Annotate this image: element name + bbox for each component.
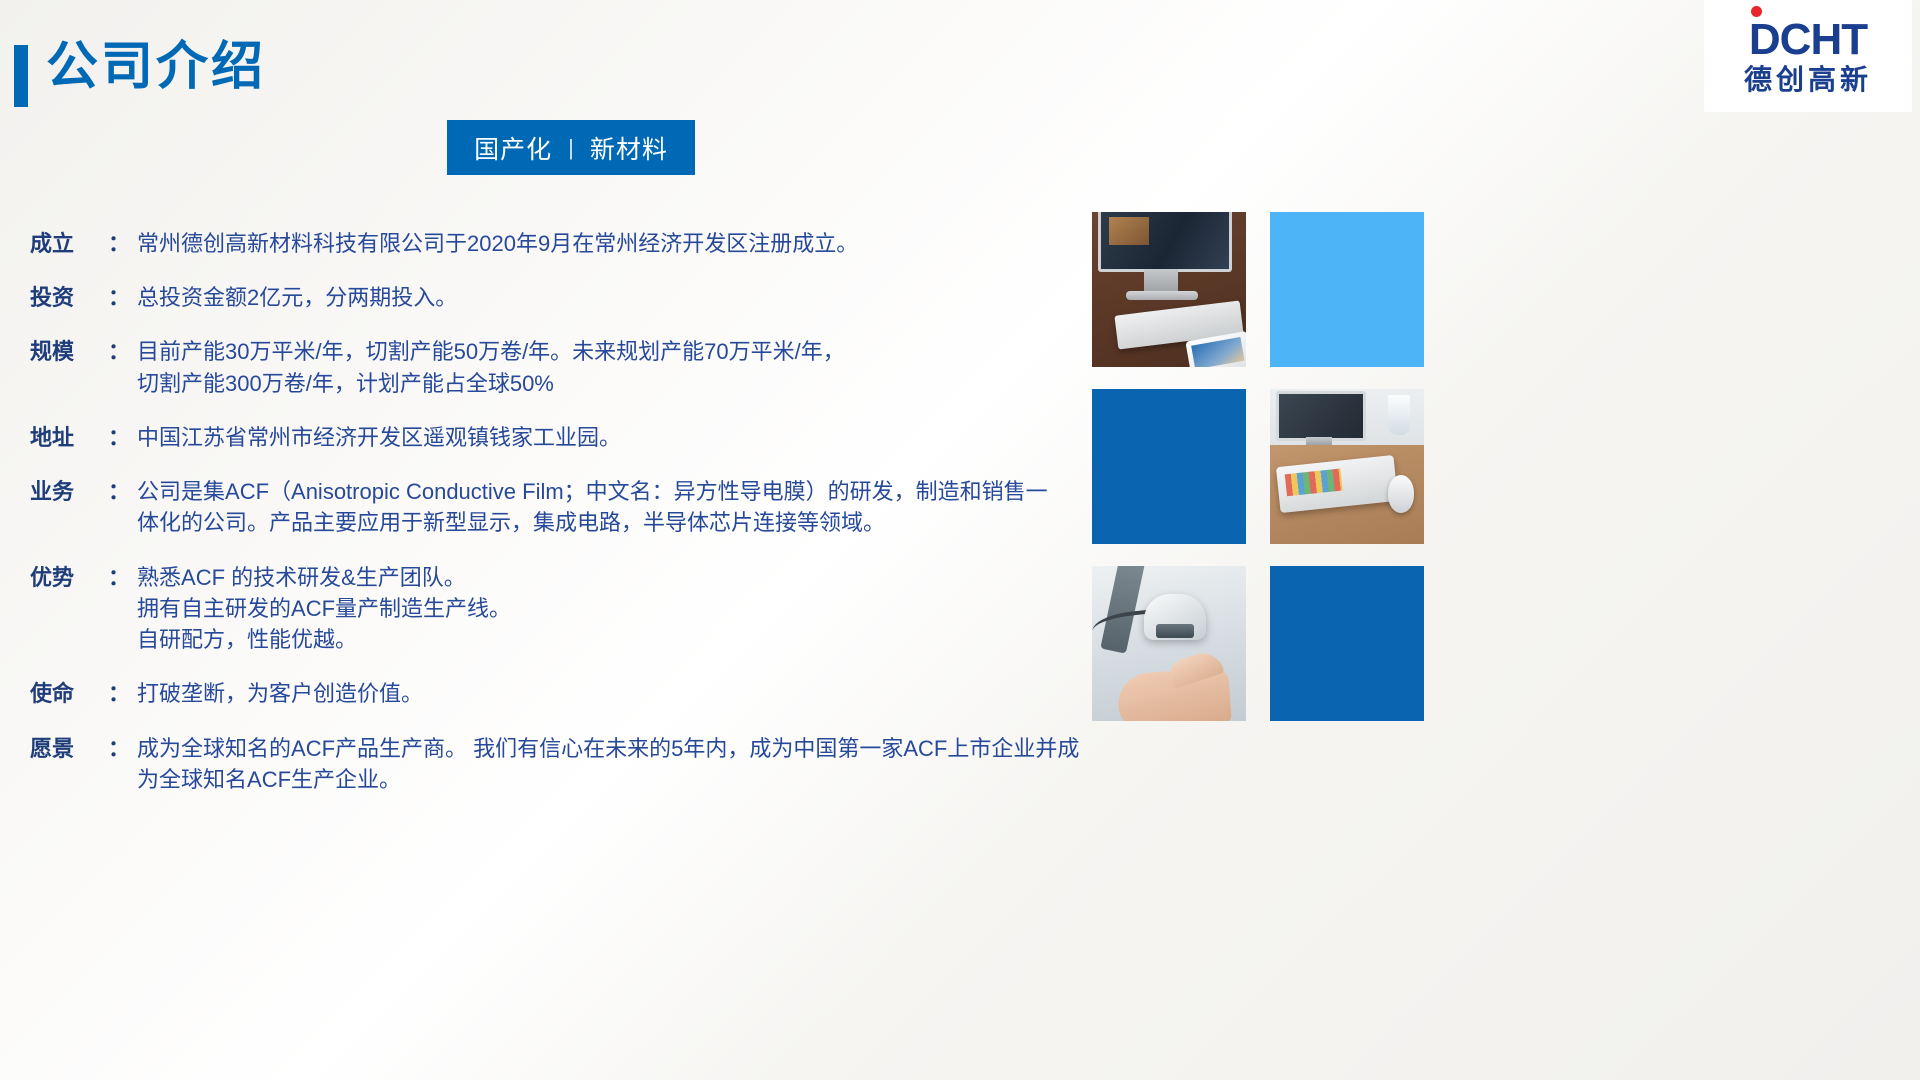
- info-row-line: 总投资金额2亿元，分两期投入。: [137, 282, 1090, 313]
- info-row-line: 打破垄断，为客户创造价值。: [137, 678, 1090, 709]
- tagline-separator: |: [568, 135, 574, 161]
- light-blue-tile: [1270, 212, 1424, 367]
- info-row: 投资：总投资金额2亿元，分两期投入。: [30, 282, 1090, 313]
- info-row-label: 地址: [30, 422, 108, 453]
- logo-wordmark: DCHT: [1749, 18, 1867, 62]
- info-row-label: 优势: [30, 562, 108, 593]
- info-row-colon: ：: [108, 562, 137, 593]
- info-row: 业务：公司是集ACF（Anisotropic Conductive Film；中…: [30, 476, 1090, 538]
- info-row-label: 规模: [30, 336, 108, 367]
- tagline-right: 新材料: [574, 130, 684, 166]
- keyboard-desk-photo: [1270, 389, 1424, 544]
- info-row-line: 常州德创高新材料科技有限公司于2020年9月在常州经济开发区注册成立。: [137, 228, 1090, 259]
- info-row: 使命：打破垄断，为客户创造价值。: [30, 678, 1090, 709]
- info-row-colon: ：: [108, 476, 137, 507]
- image-grid-row: [1092, 566, 1424, 721]
- page-title: 公司介绍: [46, 38, 266, 98]
- info-row-label: 愿景: [30, 733, 108, 764]
- image-grid: [1092, 212, 1424, 743]
- info-row-line: 成为全球知名的ACF产品生产商。 我们有信心在未来的5年内，成为中国第一家ACF…: [137, 733, 1090, 764]
- info-row-body: 常州德创高新材料科技有限公司于2020年9月在常州经济开发区注册成立。: [137, 228, 1090, 259]
- info-row-body: 熟悉ACF 的技术研发&生产团队。拥有自主研发的ACF量产制造生产线。自研配方，…: [137, 562, 1090, 656]
- logo-chinese-name: 德创高新: [1744, 66, 1872, 94]
- image-grid-row: [1092, 212, 1424, 367]
- info-row-line: 公司是集ACF（Anisotropic Conductive Film；中文名：…: [137, 476, 1090, 507]
- robotic-arm-photo: [1092, 566, 1246, 721]
- logo-mark-text: DCHT: [1749, 18, 1867, 62]
- info-row: 优势：熟悉ACF 的技术研发&生产团队。拥有自主研发的ACF量产制造生产线。自研…: [30, 562, 1090, 656]
- blue-tile: [1270, 566, 1424, 721]
- info-row-line: 熟悉ACF 的技术研发&生产团队。: [137, 562, 1090, 593]
- info-row-line: 为全球知名ACF生产企业。: [137, 764, 1090, 795]
- info-row-label: 使命: [30, 678, 108, 709]
- info-row-colon: ：: [108, 282, 137, 313]
- info-row: 地址：中国江苏省常州市经济开发区遥观镇钱家工业园。: [30, 422, 1090, 453]
- info-row-body: 打破垄断，为客户创造价值。: [137, 678, 1090, 709]
- title-accent-bar: [14, 45, 28, 107]
- info-row-colon: ：: [108, 733, 137, 764]
- info-row: 成立：常州德创高新材料科技有限公司于2020年9月在常州经济开发区注册成立。: [30, 228, 1090, 259]
- info-row-line: 自研配方，性能优越。: [137, 624, 1090, 655]
- info-row-label: 业务: [30, 476, 108, 507]
- info-row-body: 目前产能30万平米/年，切割产能50万卷/年。未来规划产能70万平米/年，切割产…: [137, 336, 1090, 398]
- info-row-line: 体化的公司。产品主要应用于新型显示，集成电路，半导体芯片连接等领域。: [137, 507, 1090, 538]
- info-row-line: 中国江苏省常州市经济开发区遥观镇钱家工业园。: [137, 422, 1090, 453]
- info-row-body: 公司是集ACF（Anisotropic Conductive Film；中文名：…: [137, 476, 1090, 538]
- info-row: 规模：目前产能30万平米/年，切割产能50万卷/年。未来规划产能70万平米/年，…: [30, 336, 1090, 398]
- info-row-line: 切割产能300万卷/年，计划产能占全球50%: [137, 368, 1090, 399]
- info-row-line: 目前产能30万平米/年，切割产能50万卷/年。未来规划产能70万平米/年，: [137, 336, 1090, 367]
- info-row-colon: ：: [108, 336, 137, 367]
- info-row-body: 中国江苏省常州市经济开发区遥观镇钱家工业园。: [137, 422, 1090, 453]
- image-grid-row: [1092, 389, 1424, 544]
- info-row-body: 成为全球知名的ACF产品生产商。 我们有信心在未来的5年内，成为中国第一家ACF…: [137, 733, 1090, 795]
- tagline-banner: 国产化 | 新材料: [447, 120, 695, 175]
- info-row-label: 成立: [30, 228, 108, 259]
- imac-desk-photo: [1092, 212, 1246, 367]
- logo-red-dot-icon: [1751, 6, 1762, 17]
- info-row-body: 总投资金额2亿元，分两期投入。: [137, 282, 1090, 313]
- info-row-line: 拥有自主研发的ACF量产制造生产线。: [137, 593, 1090, 624]
- info-row: 愿景：成为全球知名的ACF产品生产商。 我们有信心在未来的5年内，成为中国第一家…: [30, 733, 1090, 795]
- slide-canvas: 公司介绍 DCHT 德创高新 国产化 | 新材料 成立：常州德创高新材料科技有限…: [0, 0, 1920, 1080]
- info-row-colon: ：: [108, 422, 137, 453]
- info-row-label: 投资: [30, 282, 108, 313]
- info-row-colon: ：: [108, 228, 137, 259]
- tagline-left: 国产化: [458, 130, 568, 166]
- company-info-list: 成立：常州德创高新材料科技有限公司于2020年9月在常州经济开发区注册成立。投资…: [30, 228, 1090, 818]
- company-logo: DCHT 德创高新: [1704, 0, 1912, 112]
- info-row-colon: ：: [108, 678, 137, 709]
- blue-tile: [1092, 389, 1246, 544]
